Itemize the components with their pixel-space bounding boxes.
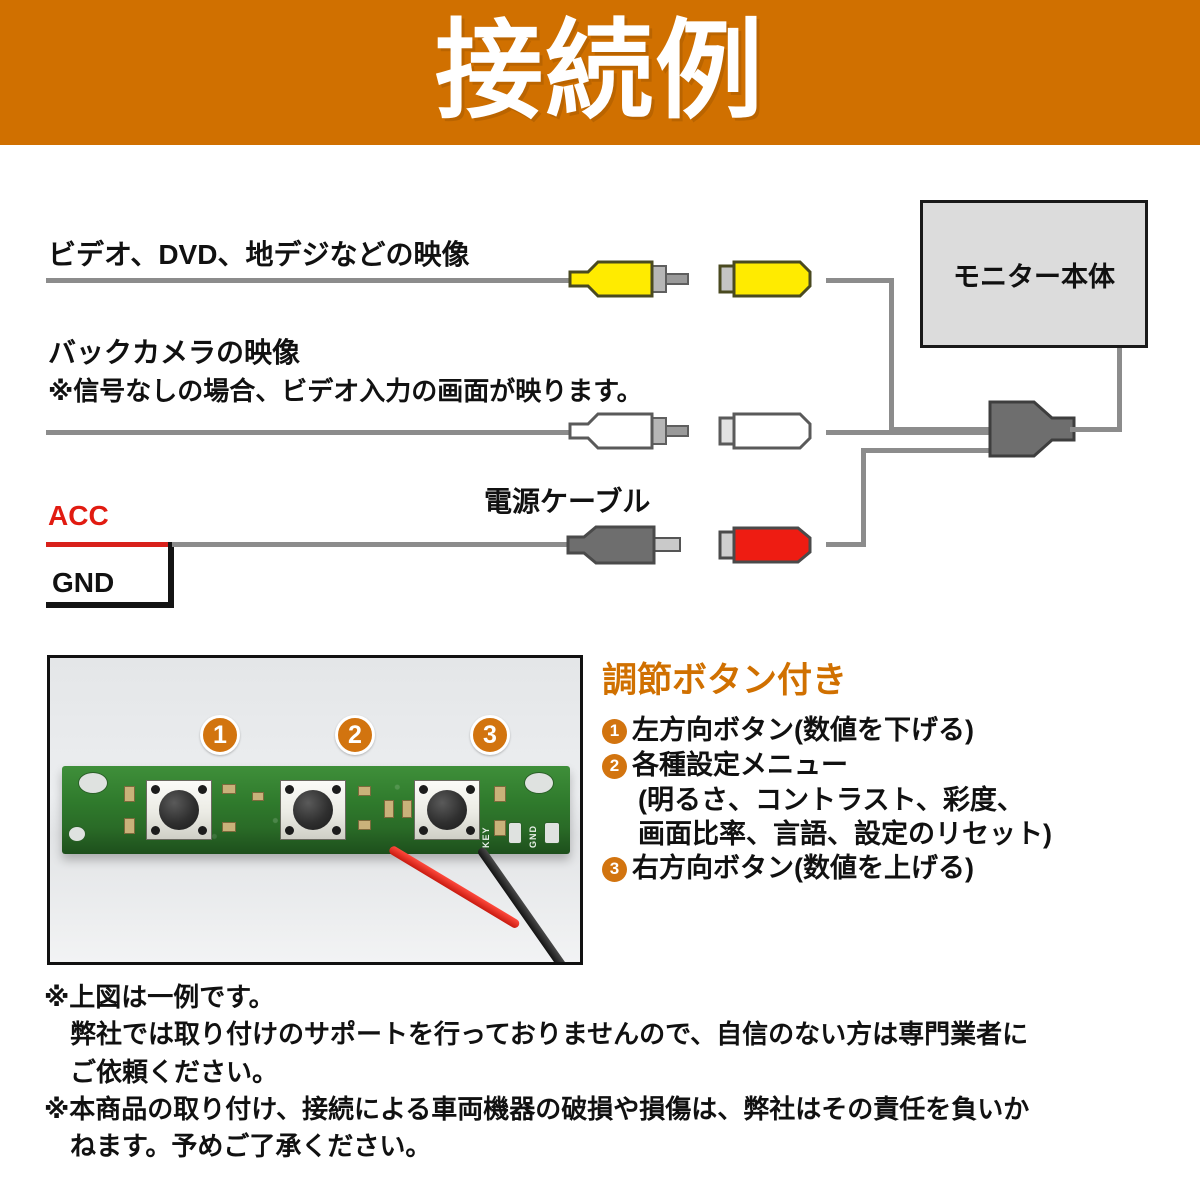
smd-component — [384, 800, 394, 818]
cable-video-down — [889, 278, 894, 430]
photo-badge-1: 1 — [200, 715, 240, 755]
tact-switch-2[interactable] — [280, 780, 346, 840]
pcb-pad-gnd — [544, 822, 560, 844]
smd-component — [252, 792, 264, 801]
rca-jack-video-female — [718, 260, 828, 298]
list-item: 2 各種設定メニュー — [602, 748, 1182, 782]
tact-switch-1[interactable] — [146, 780, 212, 840]
smd-component — [124, 818, 135, 834]
cable-splitter-right — [1070, 427, 1122, 432]
list-item: 1 左方向ボタン(数値を下げる) — [602, 713, 1182, 747]
label-acc: ACC — [48, 500, 109, 532]
cable-camera-right — [826, 430, 996, 435]
cable-video-right — [826, 278, 894, 283]
list-badge-3: 3 — [602, 857, 627, 882]
smd-component — [222, 822, 236, 832]
label-power-cable: 電源ケーブル — [484, 480, 650, 520]
smd-component — [124, 786, 135, 802]
power-jack-female-red — [718, 525, 828, 565]
cable-camera-left — [46, 430, 576, 435]
gnd-wire-horizontal — [46, 602, 174, 608]
silkscreen-gnd-label: GND — [528, 825, 538, 848]
note-line-2: 弊社では取り付けのサポートを行っておりませんので、自信のない方は専門業者に — [44, 1017, 1174, 1052]
monitor-unit-box: モニター本体 — [920, 200, 1148, 348]
label-video-source: ビデオ、DVD、地デジなどの映像 — [48, 233, 469, 273]
acc-wire — [46, 542, 172, 547]
list-label-2: 各種設定メニュー — [632, 748, 848, 782]
photo-badge-3: 3 — [470, 715, 510, 755]
label-camera-note: ※信号なしの場合、ビデオ入力の画面が映ります。 — [48, 371, 643, 408]
note-line-5: ねます。予めご了承ください。 — [44, 1129, 1174, 1164]
list-label-3: 右方向ボタン(数値を上げる) — [632, 851, 974, 885]
tact-switch-3[interactable] — [414, 780, 480, 840]
y-splitter-connector — [988, 398, 1076, 460]
list-badge-2: 2 — [602, 754, 627, 779]
connection-diagram: ビデオ、DVD、地デジなどの映像 バックカメラの映像 ※信号なしの場合、ビデオ入… — [0, 145, 1200, 640]
note-line-1: ※上図は一例です。 — [44, 980, 1174, 1015]
note-line-4: ※本商品の取り付け、接続による車両機器の破損や損傷は、弊社はその責任を負いか — [44, 1092, 1174, 1127]
photo-badge-2: 2 — [335, 715, 375, 755]
list-badge-1: 1 — [602, 719, 627, 744]
smd-component — [358, 786, 371, 796]
monitor-unit-label: モニター本体 — [953, 255, 1115, 294]
list-item: 3 右方向ボタン(数値を上げる) — [602, 851, 1182, 885]
page-header: 接続例 — [0, 0, 1200, 145]
pcb-board: KEY GND — [62, 766, 570, 854]
menu-options-line-2: 画面比率、言語、設定のリセット) — [602, 817, 1182, 851]
pcb-mount-hole-left — [78, 772, 108, 794]
label-backup-camera: バックカメラの映像 — [48, 331, 300, 371]
gnd-wire-vertical — [168, 542, 174, 608]
pcb-mount-hole-right — [524, 772, 554, 794]
adjustment-button-list: 1 左方向ボタン(数値を下げる) 2 各種設定メニュー (明るさ、コントラスト、… — [602, 713, 1182, 885]
control-board-photo: KEY GND 1 2 3 — [47, 655, 583, 965]
rca-plug-camera-male — [566, 410, 690, 452]
disclaimer-notes: ※上図は一例です。 弊社では取り付けのサポートを行っておりませんので、自信のない… — [44, 980, 1174, 1167]
smd-component — [494, 820, 506, 836]
smd-component — [494, 786, 506, 802]
smd-component — [358, 820, 371, 830]
cable-splitter-to-monitor — [1117, 348, 1122, 430]
silkscreen-key-label: KEY — [481, 826, 491, 848]
menu-options-line-1: (明るさ、コントラスト、彩度、 — [602, 783, 1182, 817]
cable-video-left — [46, 278, 576, 283]
rca-plug-video-male — [566, 258, 690, 300]
note-line-3: ご依頼ください。 — [44, 1055, 1174, 1090]
cable-power-right — [826, 542, 866, 547]
smd-component — [402, 800, 412, 818]
rca-jack-camera-female — [718, 412, 828, 450]
smd-component — [222, 784, 236, 794]
adjustment-buttons-section: 調節ボタン付き 1 左方向ボタン(数値を下げる) 2 各種設定メニュー (明るさ… — [602, 662, 1182, 886]
pcb-pad-key — [508, 822, 522, 844]
list-label-1: 左方向ボタン(数値を下げる) — [632, 713, 974, 747]
label-gnd: GND — [52, 567, 114, 599]
power-plug-male — [566, 523, 682, 567]
pcb-hole-small-left — [68, 826, 86, 842]
cable-power-to-splitter — [861, 448, 996, 453]
cable-power-left — [172, 542, 576, 547]
adjustment-section-title: 調節ボタン付き — [602, 662, 1182, 701]
cable-power-up — [861, 448, 866, 544]
page-title: 接続例 — [435, 17, 765, 125]
